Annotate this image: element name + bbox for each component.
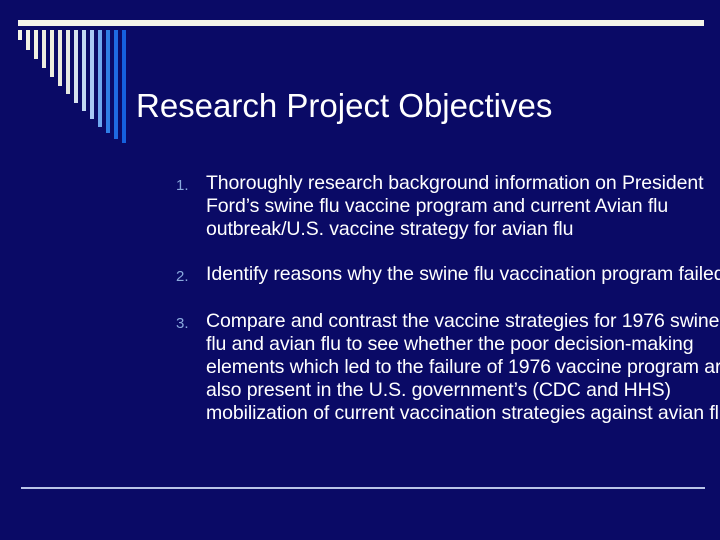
decoration-bar: [26, 30, 30, 50]
decoration-bar: [50, 30, 54, 77]
bottom-divider-rule: [21, 487, 705, 489]
decoration-bar: [58, 30, 62, 86]
list-item-text: Thoroughly research background informati…: [206, 172, 720, 241]
decoration-bar: [114, 30, 118, 139]
decoration-bar: [34, 30, 38, 59]
list-item-number: 2.: [176, 263, 206, 288]
decoration-bar: [106, 30, 110, 133]
presentation-slide: Research Project Objectives 1.Thoroughly…: [0, 0, 720, 540]
list-item-number: 1.: [176, 172, 206, 197]
gradient-bar-cluster-decoration: [18, 30, 128, 145]
decoration-bar: [122, 30, 126, 143]
list-item: 3.Compare and contrast the vaccine strat…: [176, 310, 720, 425]
decoration-bar: [82, 30, 86, 111]
objectives-list: 1.Thoroughly research background informa…: [136, 172, 720, 425]
decoration-bar: [74, 30, 78, 103]
decoration-bar: [90, 30, 94, 119]
list-item-text: Compare and contrast the vaccine strateg…: [206, 310, 720, 425]
top-divider-rule: [18, 20, 704, 26]
list-item-number: 3.: [176, 310, 206, 335]
decoration-bar: [66, 30, 70, 94]
decoration-bar: [42, 30, 46, 68]
slide-title: Research Project Objectives: [136, 86, 696, 126]
list-item: 2.Identify reasons why the swine flu vac…: [176, 263, 720, 288]
list-item-text: Identify reasons why the swine flu vacci…: [206, 263, 720, 286]
list-item: 1.Thoroughly research background informa…: [176, 172, 720, 241]
decoration-bar: [98, 30, 102, 127]
decoration-bar: [18, 30, 22, 40]
